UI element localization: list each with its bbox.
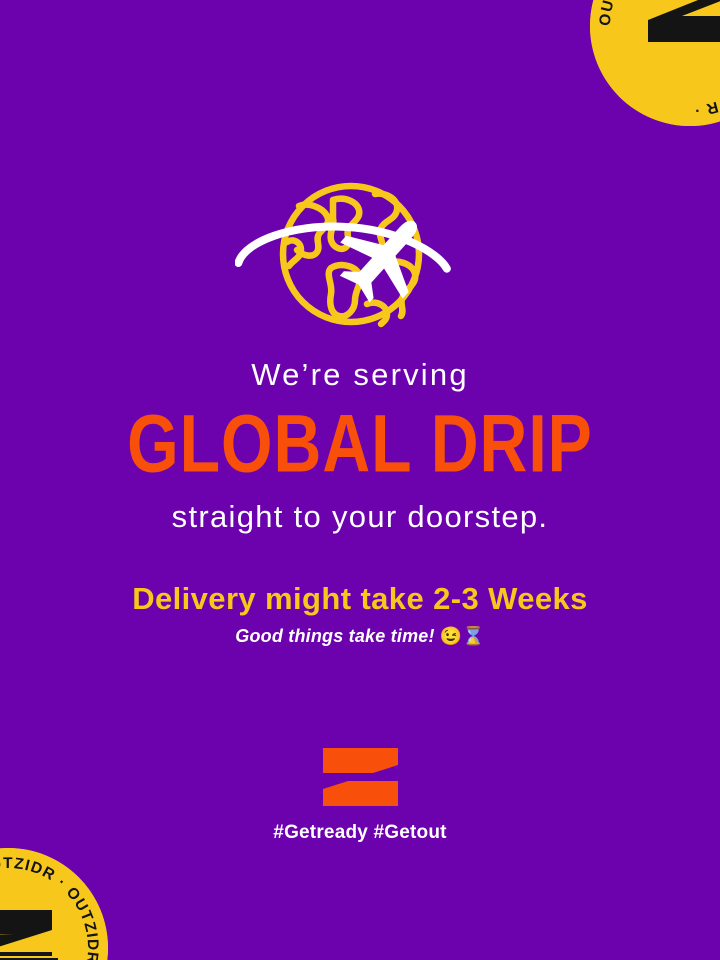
airplane-icon <box>323 194 446 317</box>
globe-icon <box>283 186 419 324</box>
eyebrow-text: We’re serving <box>0 358 720 391</box>
subline-text: straight to your doorstep. <box>0 500 720 533</box>
reassurance-text: Good things take time! <box>235 626 434 646</box>
headline-text: GLOBAL DRIP <box>14 403 705 484</box>
footer-block: #Getready #Getout <box>0 748 720 844</box>
outzidr-badge-bottom-left: OUTZIDR · OUTZIDR · OUTZIDR · OUTZIDR · … <box>0 848 108 960</box>
globe-airplane-icon <box>235 176 485 342</box>
copy-block: We’re serving GLOBAL DRIP straight to yo… <box>0 358 720 647</box>
delivery-notice-text: Delivery might take 2-3 Weeks <box>0 582 720 616</box>
outzidr-z-logo <box>320 748 400 806</box>
outzidr-badge-top-right: OUTZIDR · OUTZIDR · OUTZIDR · OUTZIDR · <box>590 0 720 126</box>
wink-hourglass-emoji: 😉⌛ <box>440 626 485 646</box>
reassurance-line: Good things take time! 😉⌛ <box>0 627 720 647</box>
poster-canvas: OUTZIDR · OUTZIDR · OUTZIDR · OUTZIDR · … <box>0 0 720 960</box>
hashtags-text: #Getready #Getout <box>0 822 720 844</box>
